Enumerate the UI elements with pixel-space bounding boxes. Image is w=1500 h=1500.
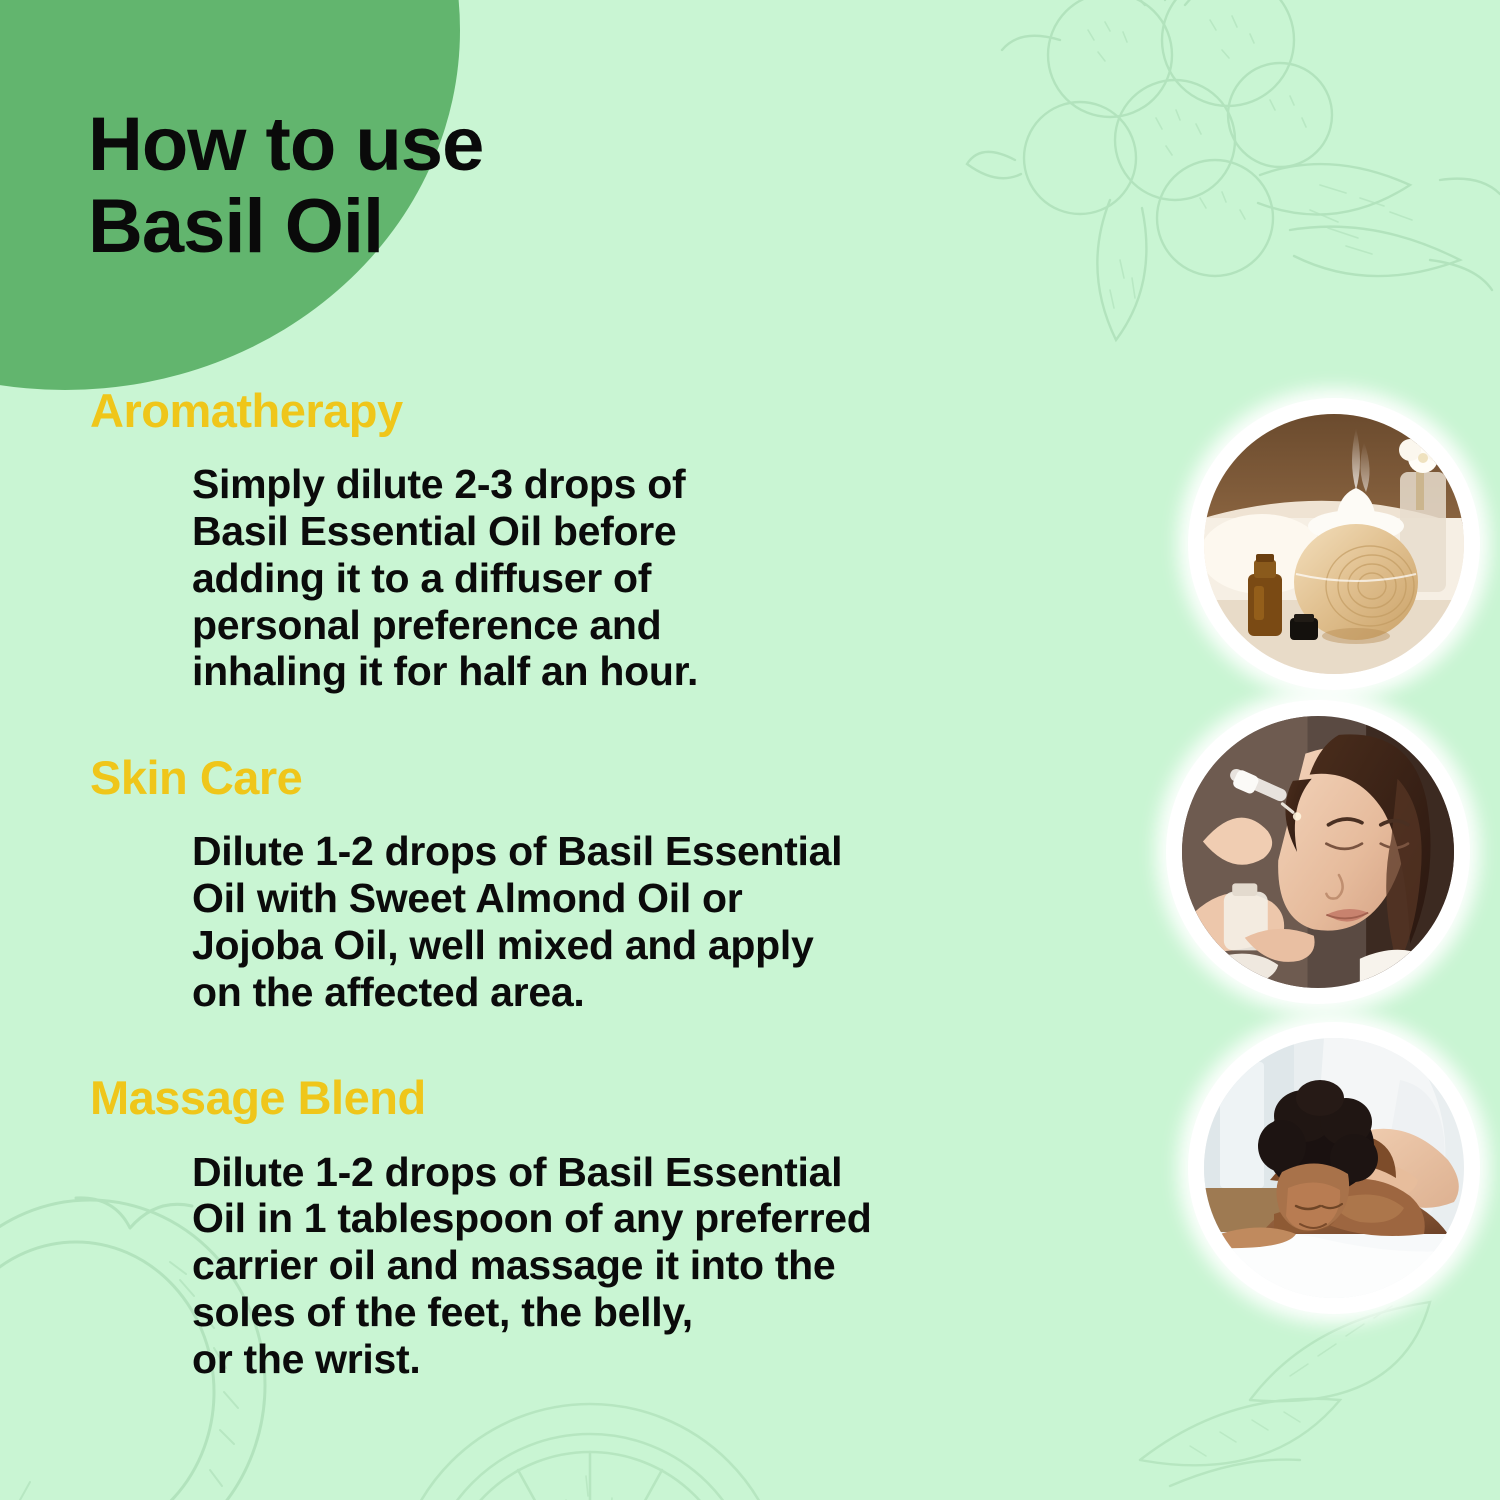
aromatherapy-diffuser-photo (1204, 414, 1464, 674)
section-heading-aromatherapy: Aromatherapy (90, 386, 1110, 435)
infographic-canvas: How to use Basil Oil Aromatherapy Simply… (0, 0, 1500, 1500)
photo-circle-massage (1188, 1022, 1480, 1314)
section-body-aromatherapy: Simply dilute 2-3 drops of Basil Essenti… (192, 461, 1110, 695)
skin-care-serum-dropper-photo (1182, 716, 1454, 988)
photo-circle-skin-care (1166, 700, 1470, 1004)
sections-container: Aromatherapy Simply dilute 2-3 drops of … (0, 386, 1110, 1382)
section-heading-skin-care: Skin Care (90, 753, 1110, 802)
section-aromatherapy: Aromatherapy Simply dilute 2-3 drops of … (0, 386, 1110, 695)
section-body-skin-care: Dilute 1-2 drops of Basil Essential Oil … (192, 828, 1110, 1015)
section-skin-care: Skin Care Dilute 1-2 drops of Basil Esse… (0, 753, 1110, 1015)
page-title: How to use Basil Oil (88, 104, 483, 268)
section-heading-massage-blend: Massage Blend (90, 1073, 1110, 1122)
photo-circle-aromatherapy (1188, 398, 1480, 690)
berry-branch-watermark (960, 0, 1500, 430)
section-massage-blend: Massage Blend Dilute 1-2 drops of Basil … (0, 1073, 1110, 1382)
section-body-massage-blend: Dilute 1-2 drops of Basil Essential Oil … (192, 1149, 1110, 1383)
massage-therapy-photo (1204, 1038, 1464, 1298)
